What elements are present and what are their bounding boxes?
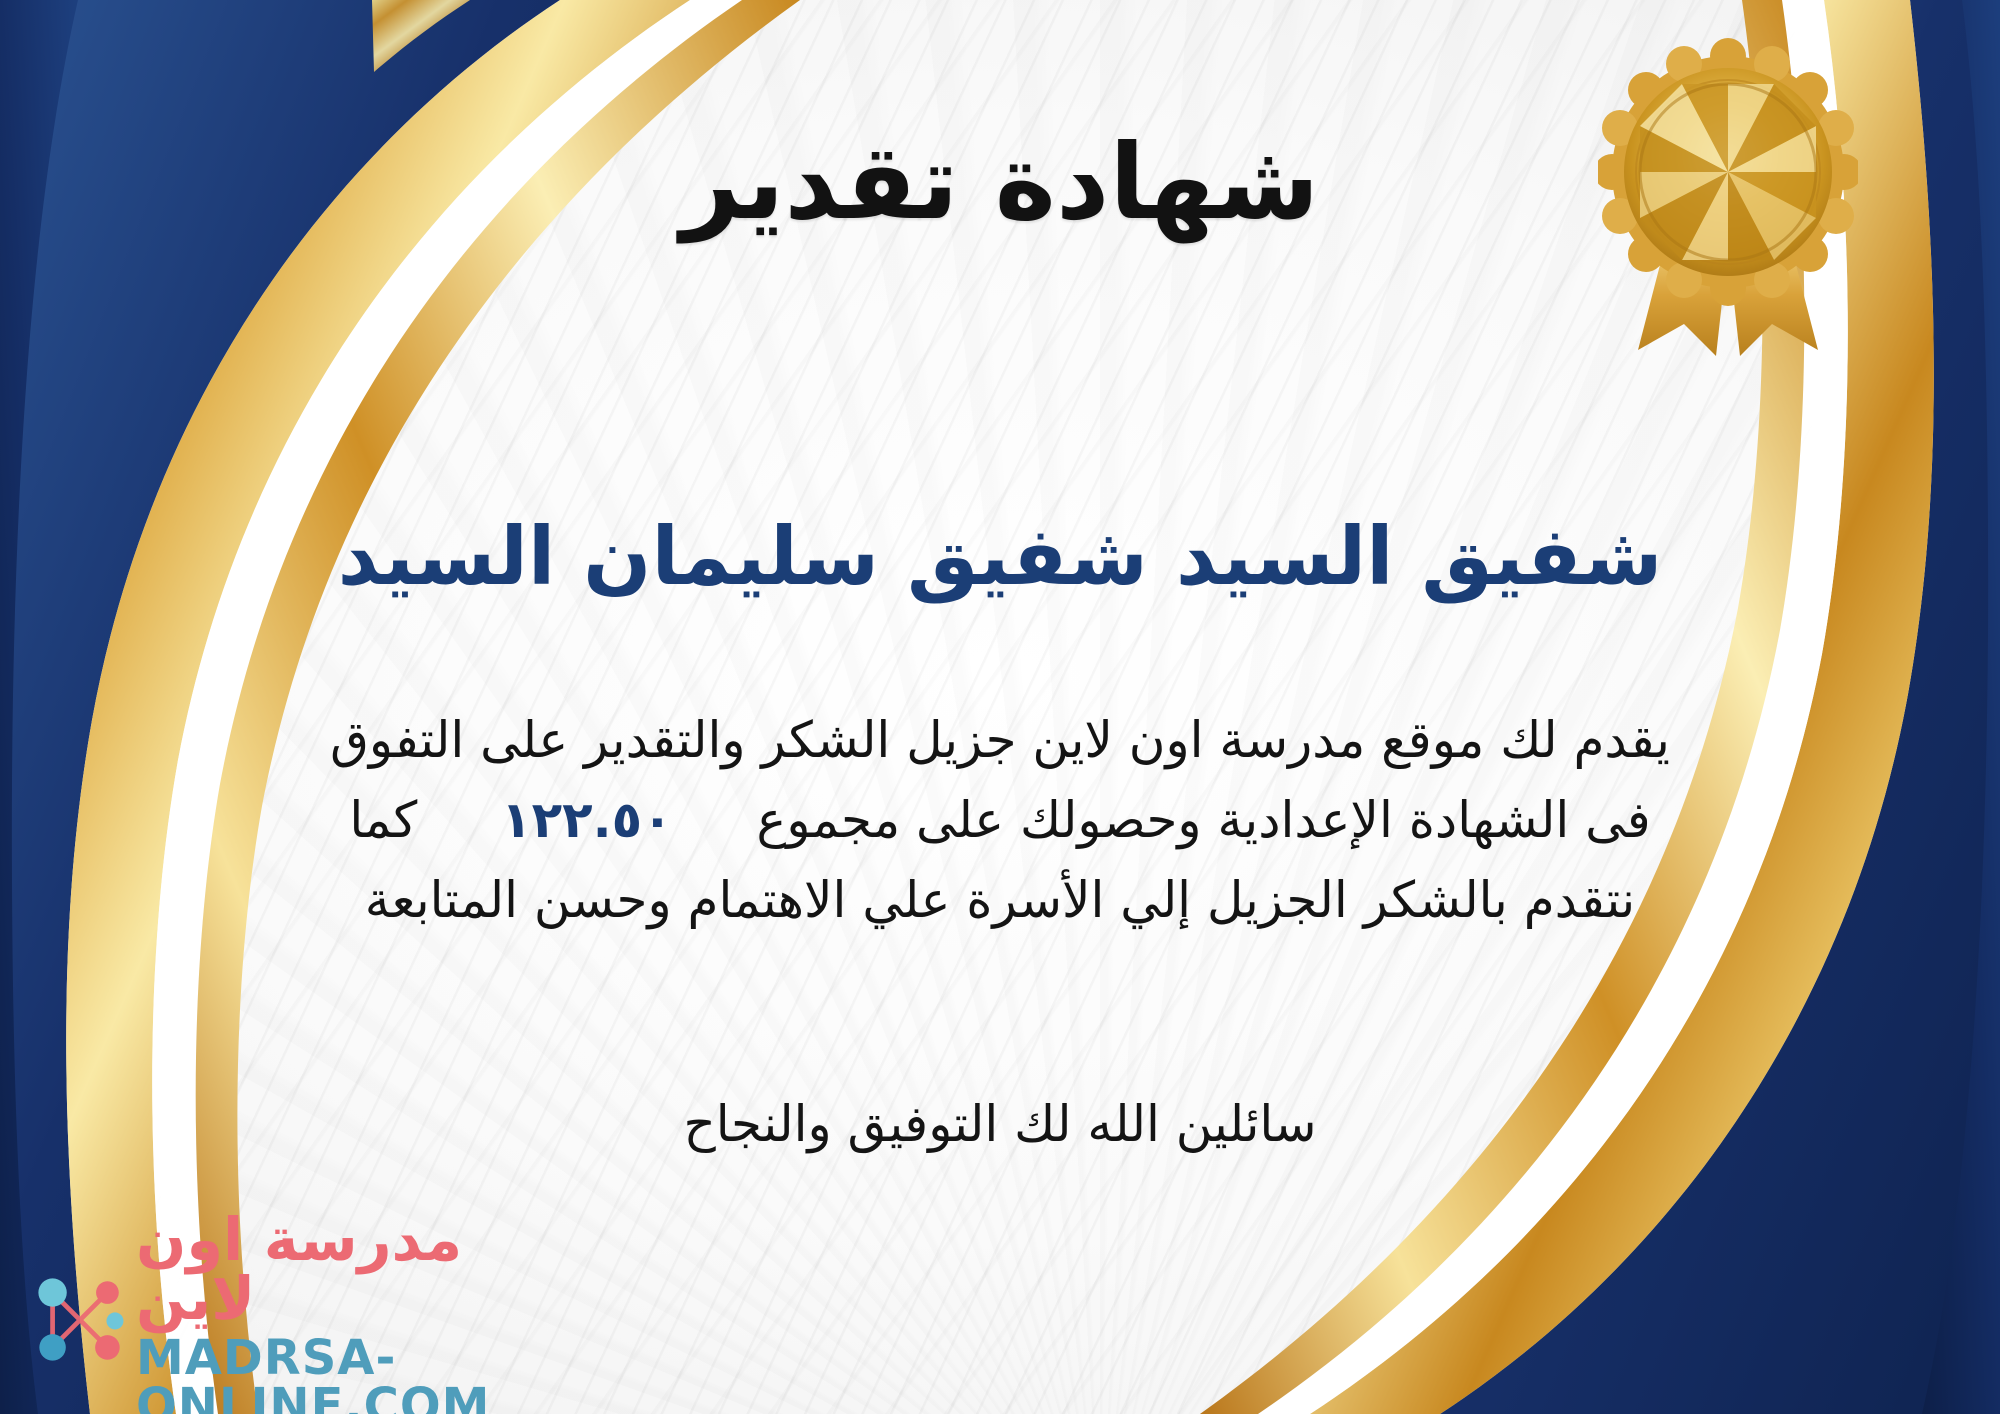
brand-arabic-name: مدرسة اون لاين <box>136 1210 548 1328</box>
score-value: ١٢٢.٥٠ <box>501 791 673 849</box>
body-line-2-after: كما <box>349 791 417 849</box>
brand-website: MADRSA-ONLINE.COM <box>136 1334 548 1414</box>
recipient-name: شفيق السيد شفيق سليمان السيد <box>0 512 2000 602</box>
body-line-3: نتقدم بالشكر الجزيل إلي الأسرة علي الاهت… <box>60 860 1940 940</box>
certificate-content: شهادة تقدير شفيق السيد شفيق سليمان السيد… <box>0 0 2000 1414</box>
body-line-2: فى الشهادة الإعدادية وحصولك على مجموع ١٢… <box>60 780 1940 860</box>
network-nodes-icon <box>28 1268 132 1372</box>
certificate-body: يقدم لك موقع مدرسة اون لاين جزيل الشكر و… <box>60 700 1940 940</box>
certificate-canvas: شهادة تقدير شفيق السيد شفيق سليمان السيد… <box>0 0 2000 1414</box>
brand-logo[interactable]: مدرسة اون لاين MADRSA-ONLINE.COM <box>28 1250 548 1390</box>
page-title: شهادة تقدير <box>0 128 2000 237</box>
closing-wish: سائلين الله لك التوفيق والنجاح <box>0 1095 2000 1153</box>
brand-logo-text: مدرسة اون لاين MADRSA-ONLINE.COM <box>136 1210 548 1414</box>
body-line-2-before: فى الشهادة الإعدادية وحصولك على مجموع <box>756 791 1650 849</box>
body-line-1: يقدم لك موقع مدرسة اون لاين جزيل الشكر و… <box>60 700 1940 780</box>
